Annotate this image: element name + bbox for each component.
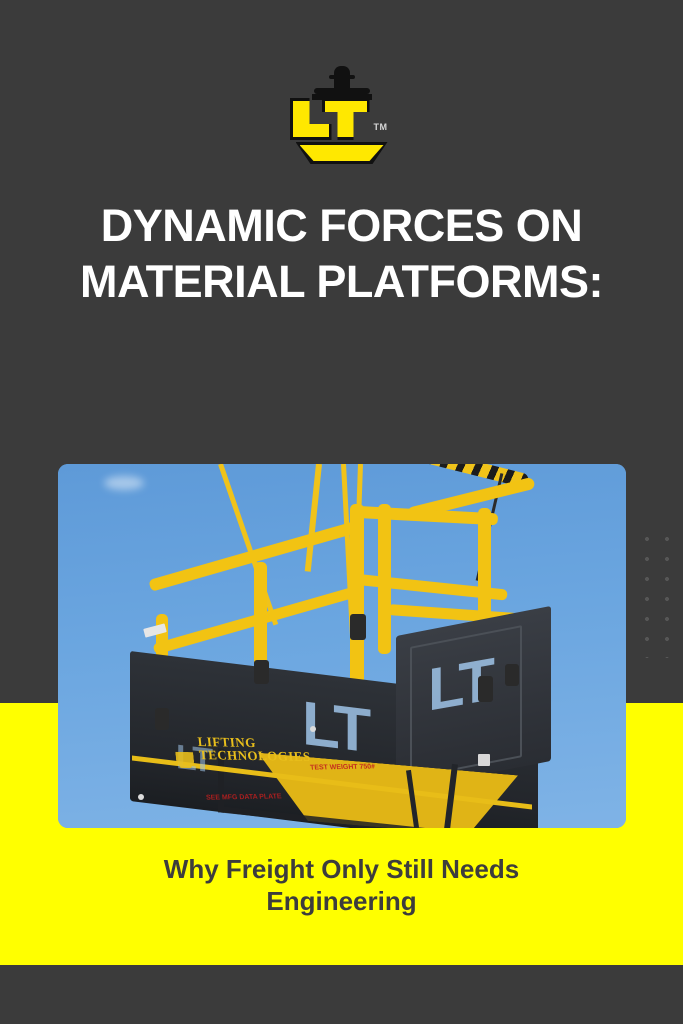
brand-line-2: TECHNOLOGIES bbox=[198, 748, 311, 763]
page-title-line-2: Material Platforms: bbox=[40, 254, 643, 310]
hard-hat-icon bbox=[329, 75, 355, 79]
bolt-head bbox=[310, 726, 316, 732]
pinterest-poster: TM Dynamic Forces On Material Platforms: bbox=[0, 0, 683, 1024]
rail-socket bbox=[254, 660, 269, 684]
trademark-symbol: TM bbox=[374, 122, 388, 132]
lt-letters: TM bbox=[290, 98, 394, 140]
cloud-wisp bbox=[104, 476, 144, 490]
rail-socket bbox=[350, 614, 366, 640]
rail-socket bbox=[505, 664, 519, 686]
page-subtitle: Why Freight Only Still Needs Engineering bbox=[0, 853, 683, 917]
page-title: Dynamic Forces On Material Platforms: bbox=[0, 198, 683, 310]
platform-brand-text: LIFTING TECHNOLOGIES bbox=[197, 735, 311, 763]
guardrail-post bbox=[350, 504, 364, 694]
page-subtitle-line-2: Engineering bbox=[266, 886, 416, 916]
hero-photo: LT LT LT LIFTING TECHNOLOGIES TEST WEIGH… bbox=[58, 464, 626, 828]
rail-socket bbox=[478, 676, 493, 702]
guardrail-post bbox=[378, 504, 391, 654]
data-plate-label bbox=[478, 754, 490, 766]
bolt-head bbox=[138, 794, 144, 800]
page-title-line-1: Dynamic Forces On bbox=[101, 200, 583, 251]
logo-base-fill bbox=[300, 145, 384, 161]
dot-grid-decoration bbox=[634, 526, 683, 658]
lt-logo-mark: TM bbox=[284, 64, 400, 162]
page-subtitle-line-1: Why Freight Only Still Needs bbox=[164, 854, 519, 884]
platform-warning-text: TEST WEIGHT 750# bbox=[310, 763, 376, 772]
platform-warning-text-2: SEE MFG DATA PLATE bbox=[206, 793, 282, 802]
brand-logo: TM bbox=[0, 64, 683, 164]
rail-socket bbox=[155, 708, 169, 730]
